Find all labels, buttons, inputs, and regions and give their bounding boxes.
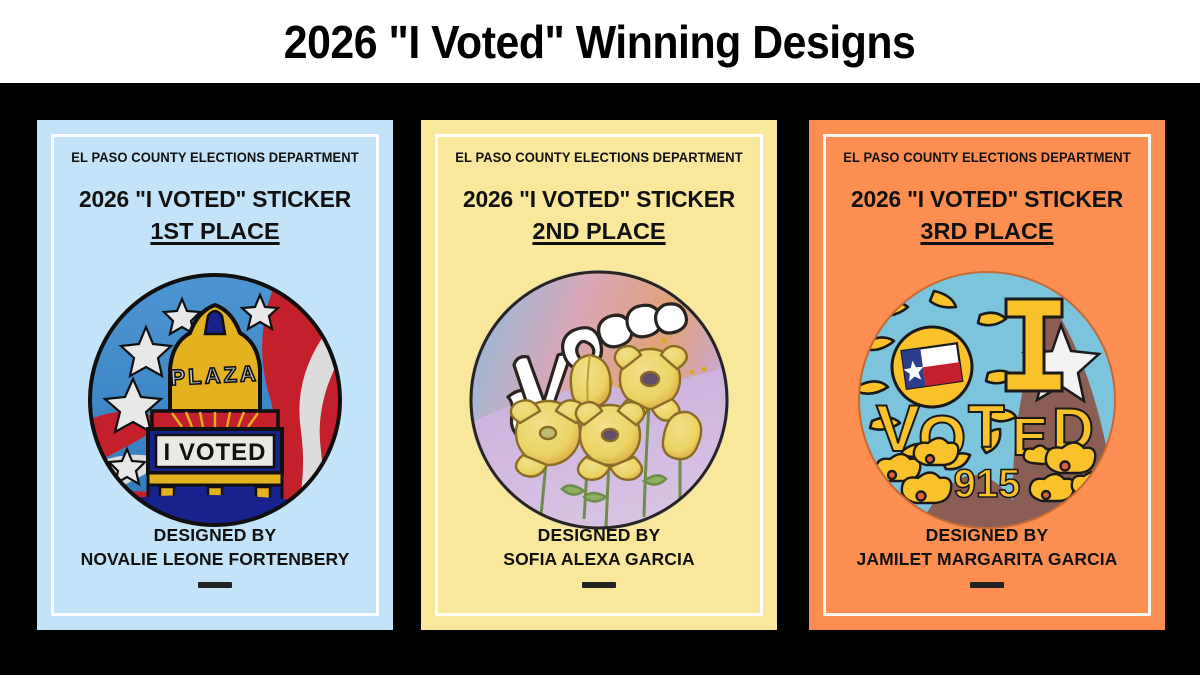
poster-third-place: EL PASO COUNTY ELECTIONS DEPARTMENT 2026…: [809, 120, 1165, 630]
page-title: 2026 "I Voted" Winning Designs: [284, 15, 916, 69]
department-label: EL PASO COUNTY ELECTIONS DEPARTMENT: [428, 150, 770, 165]
artwork-container: PLAZA I VOTED: [37, 255, 393, 545]
designer-name: SOFIA ALEXA GARCIA: [421, 549, 777, 570]
artwork-container: V O T E D 915: [809, 255, 1165, 545]
poster-header: EL PASO COUNTY ELECTIONS DEPARTMENT 2026…: [421, 150, 777, 245]
poster-footer: DESIGNED BY JAMILET MARGARITA GARCIA: [809, 525, 1165, 588]
department-label: EL PASO COUNTY ELECTIONS DEPARTMENT: [44, 150, 386, 165]
sticker-title: 2026 "I VOTED" STICKER: [426, 186, 771, 213]
screenshot-root: 2026 "I Voted" Winning Designs EL PASO C…: [0, 0, 1200, 675]
place-label: 2ND PLACE: [421, 218, 777, 245]
plaza-theatre-marquee-sticker-artwork: PLAZA I VOTED: [86, 271, 344, 529]
yellow-poppies-sticker-artwork: [468, 269, 730, 531]
poster-header: EL PASO COUNTY ELECTIONS DEPARTMENT 2026…: [809, 150, 1165, 245]
designer-name: NOVALIE LEONE FORTENBERY: [37, 549, 393, 570]
footer-dash: [970, 582, 1004, 588]
poster-first-place: EL PASO COUNTY ELECTIONS DEPARTMENT 2026…: [37, 120, 393, 630]
designed-by-label: DESIGNED BY: [37, 525, 393, 546]
svg-text:PLAZA: PLAZA: [170, 361, 260, 391]
poster-header: EL PASO COUNTY ELECTIONS DEPARTMENT 2026…: [37, 150, 393, 245]
place-label: 1ST PLACE: [37, 218, 393, 245]
department-label: EL PASO COUNTY ELECTIONS DEPARTMENT: [816, 150, 1158, 165]
svg-text:I VOTED: I VOTED: [163, 439, 266, 466]
poster-second-place: EL PASO COUNTY ELECTIONS DEPARTMENT 2026…: [421, 120, 777, 630]
title-banner: 2026 "I Voted" Winning Designs: [0, 0, 1200, 83]
sun-mountain-915-sticker-artwork: V O T E D 915: [856, 269, 1118, 531]
designed-by-label: DESIGNED BY: [809, 525, 1165, 546]
designer-name: JAMILET MARGARITA GARCIA: [809, 549, 1165, 570]
artwork-container: [421, 255, 777, 545]
sticker-title: 2026 "I VOTED" STICKER: [814, 186, 1159, 213]
footer-dash: [582, 582, 616, 588]
footer-dash: [198, 582, 232, 588]
poster-footer: DESIGNED BY SOFIA ALEXA GARCIA: [421, 525, 777, 588]
svg-text:T: T: [968, 393, 1005, 460]
place-label: 3RD PLACE: [809, 218, 1165, 245]
designed-by-label: DESIGNED BY: [421, 525, 777, 546]
sticker-title: 2026 "I VOTED" STICKER: [42, 186, 387, 213]
svg-text:915: 915: [954, 462, 1021, 506]
poster-footer: DESIGNED BY NOVALIE LEONE FORTENBERY: [37, 525, 393, 588]
